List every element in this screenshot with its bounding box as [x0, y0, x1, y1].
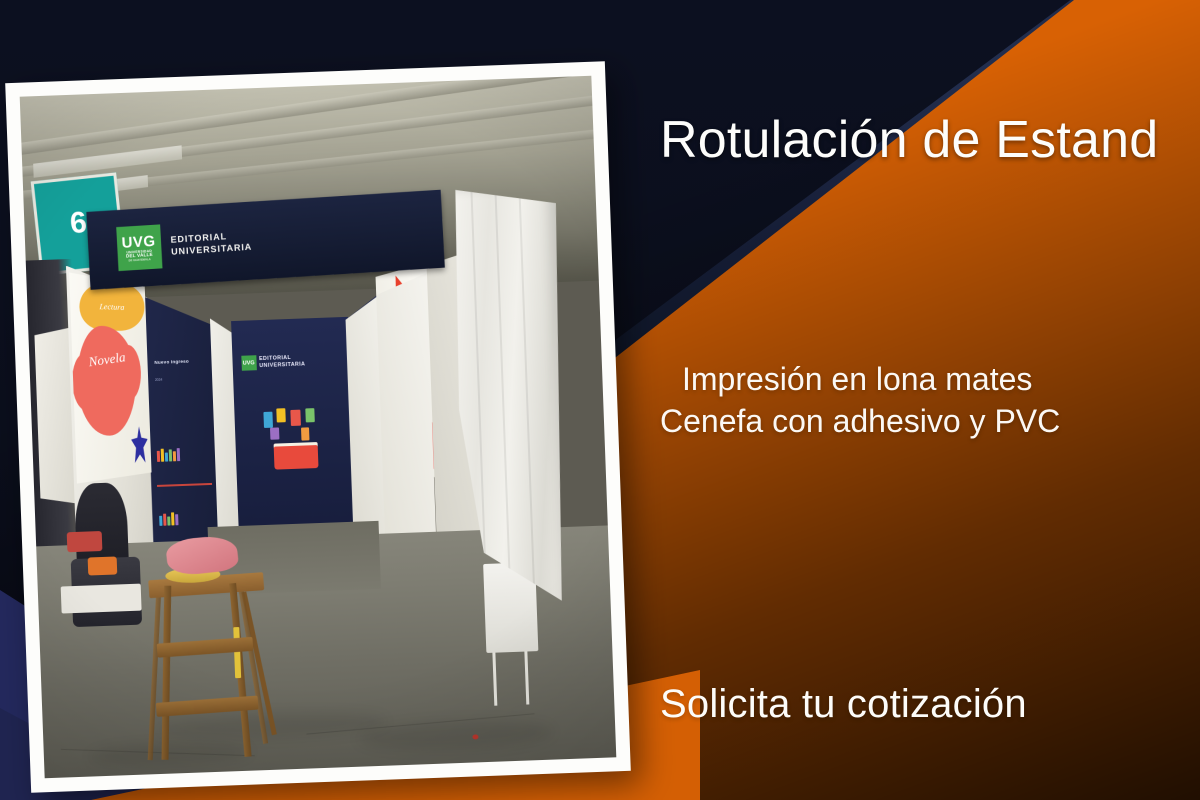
photo-white-frame: 6 UVG EDITORIAL UNIVERSITARIA	[5, 61, 631, 793]
photo-vignette	[20, 76, 617, 779]
service-line-1: Impresión en lona mates	[660, 358, 1180, 400]
photo-content: 6 UVG EDITORIAL UNIVERSITARIA	[20, 76, 617, 779]
poster-canvas: 6 UVG EDITORIAL UNIVERSITARIA	[0, 0, 1200, 800]
cta-text: Solicita tu cotización	[660, 682, 1027, 727]
service-description: Impresión en lona mates Cenefa con adhes…	[660, 358, 1180, 442]
booth-photograph: 6 UVG EDITORIAL UNIVERSITARIA	[5, 61, 631, 793]
service-line-2: Cenefa con adhesivo y PVC	[660, 400, 1180, 442]
page-title: Rotulación de Estand	[660, 110, 1200, 170]
